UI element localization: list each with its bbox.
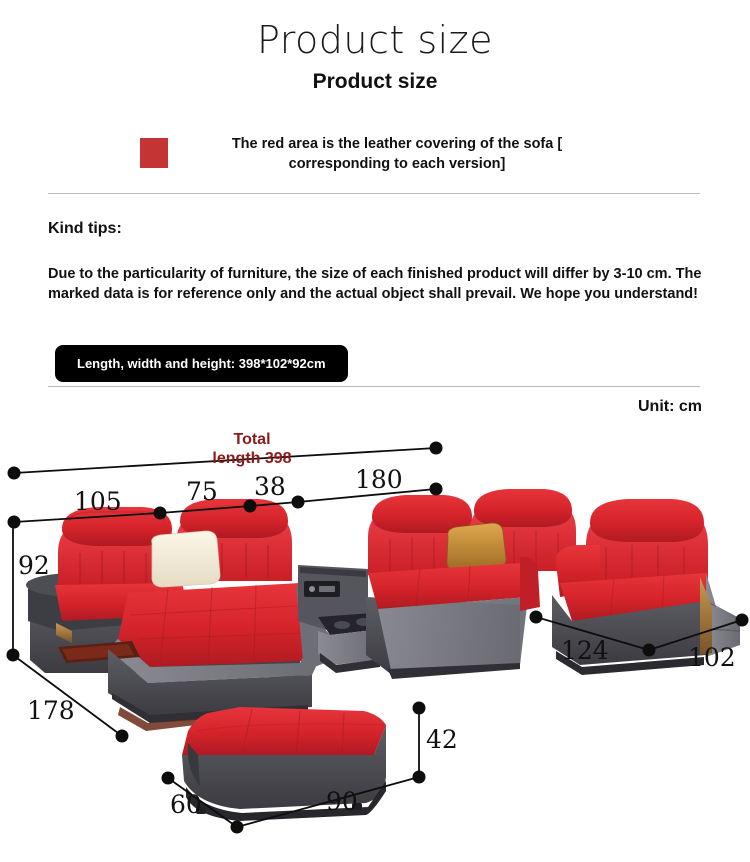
dim-label-124: 124 bbox=[561, 636, 609, 665]
loveseat-graphic bbox=[366, 489, 576, 679]
dimensions-badge: Length, width and height: 398*102*92cm bbox=[55, 345, 348, 382]
unit-label: Unit: cm bbox=[0, 398, 702, 416]
dim-label-92: 92 bbox=[18, 551, 50, 580]
product-size-diagram: Totallength 398 105 75 38 180 92 178 60 … bbox=[0, 425, 750, 862]
divider-top bbox=[48, 193, 700, 194]
dim-label-180: 180 bbox=[355, 465, 403, 494]
legend: The red area is the leather covering of … bbox=[140, 134, 610, 174]
page-subtitle: Product size bbox=[0, 70, 750, 94]
red-area-swatch bbox=[140, 138, 168, 168]
legend-label: The red area is the leather covering of … bbox=[184, 134, 610, 174]
divider-bottom bbox=[48, 386, 700, 387]
dim-label-75: 75 bbox=[186, 477, 218, 506]
dim-label-42: 42 bbox=[426, 725, 458, 754]
dim-label-90: 90 bbox=[326, 787, 358, 816]
kind-tips-heading: Kind tips: bbox=[48, 220, 122, 238]
dim-label-total-length: Totallength 398 bbox=[192, 430, 312, 468]
dim-label-105: 105 bbox=[74, 487, 122, 516]
dim-label-102: 102 bbox=[688, 643, 736, 672]
dim-label-60: 60 bbox=[170, 790, 202, 819]
dim-label-178: 178 bbox=[27, 696, 75, 725]
page-title: Product size bbox=[0, 18, 750, 62]
dim-label-38: 38 bbox=[254, 472, 286, 501]
kind-tips-body: Due to the particularity of furniture, t… bbox=[48, 264, 703, 304]
